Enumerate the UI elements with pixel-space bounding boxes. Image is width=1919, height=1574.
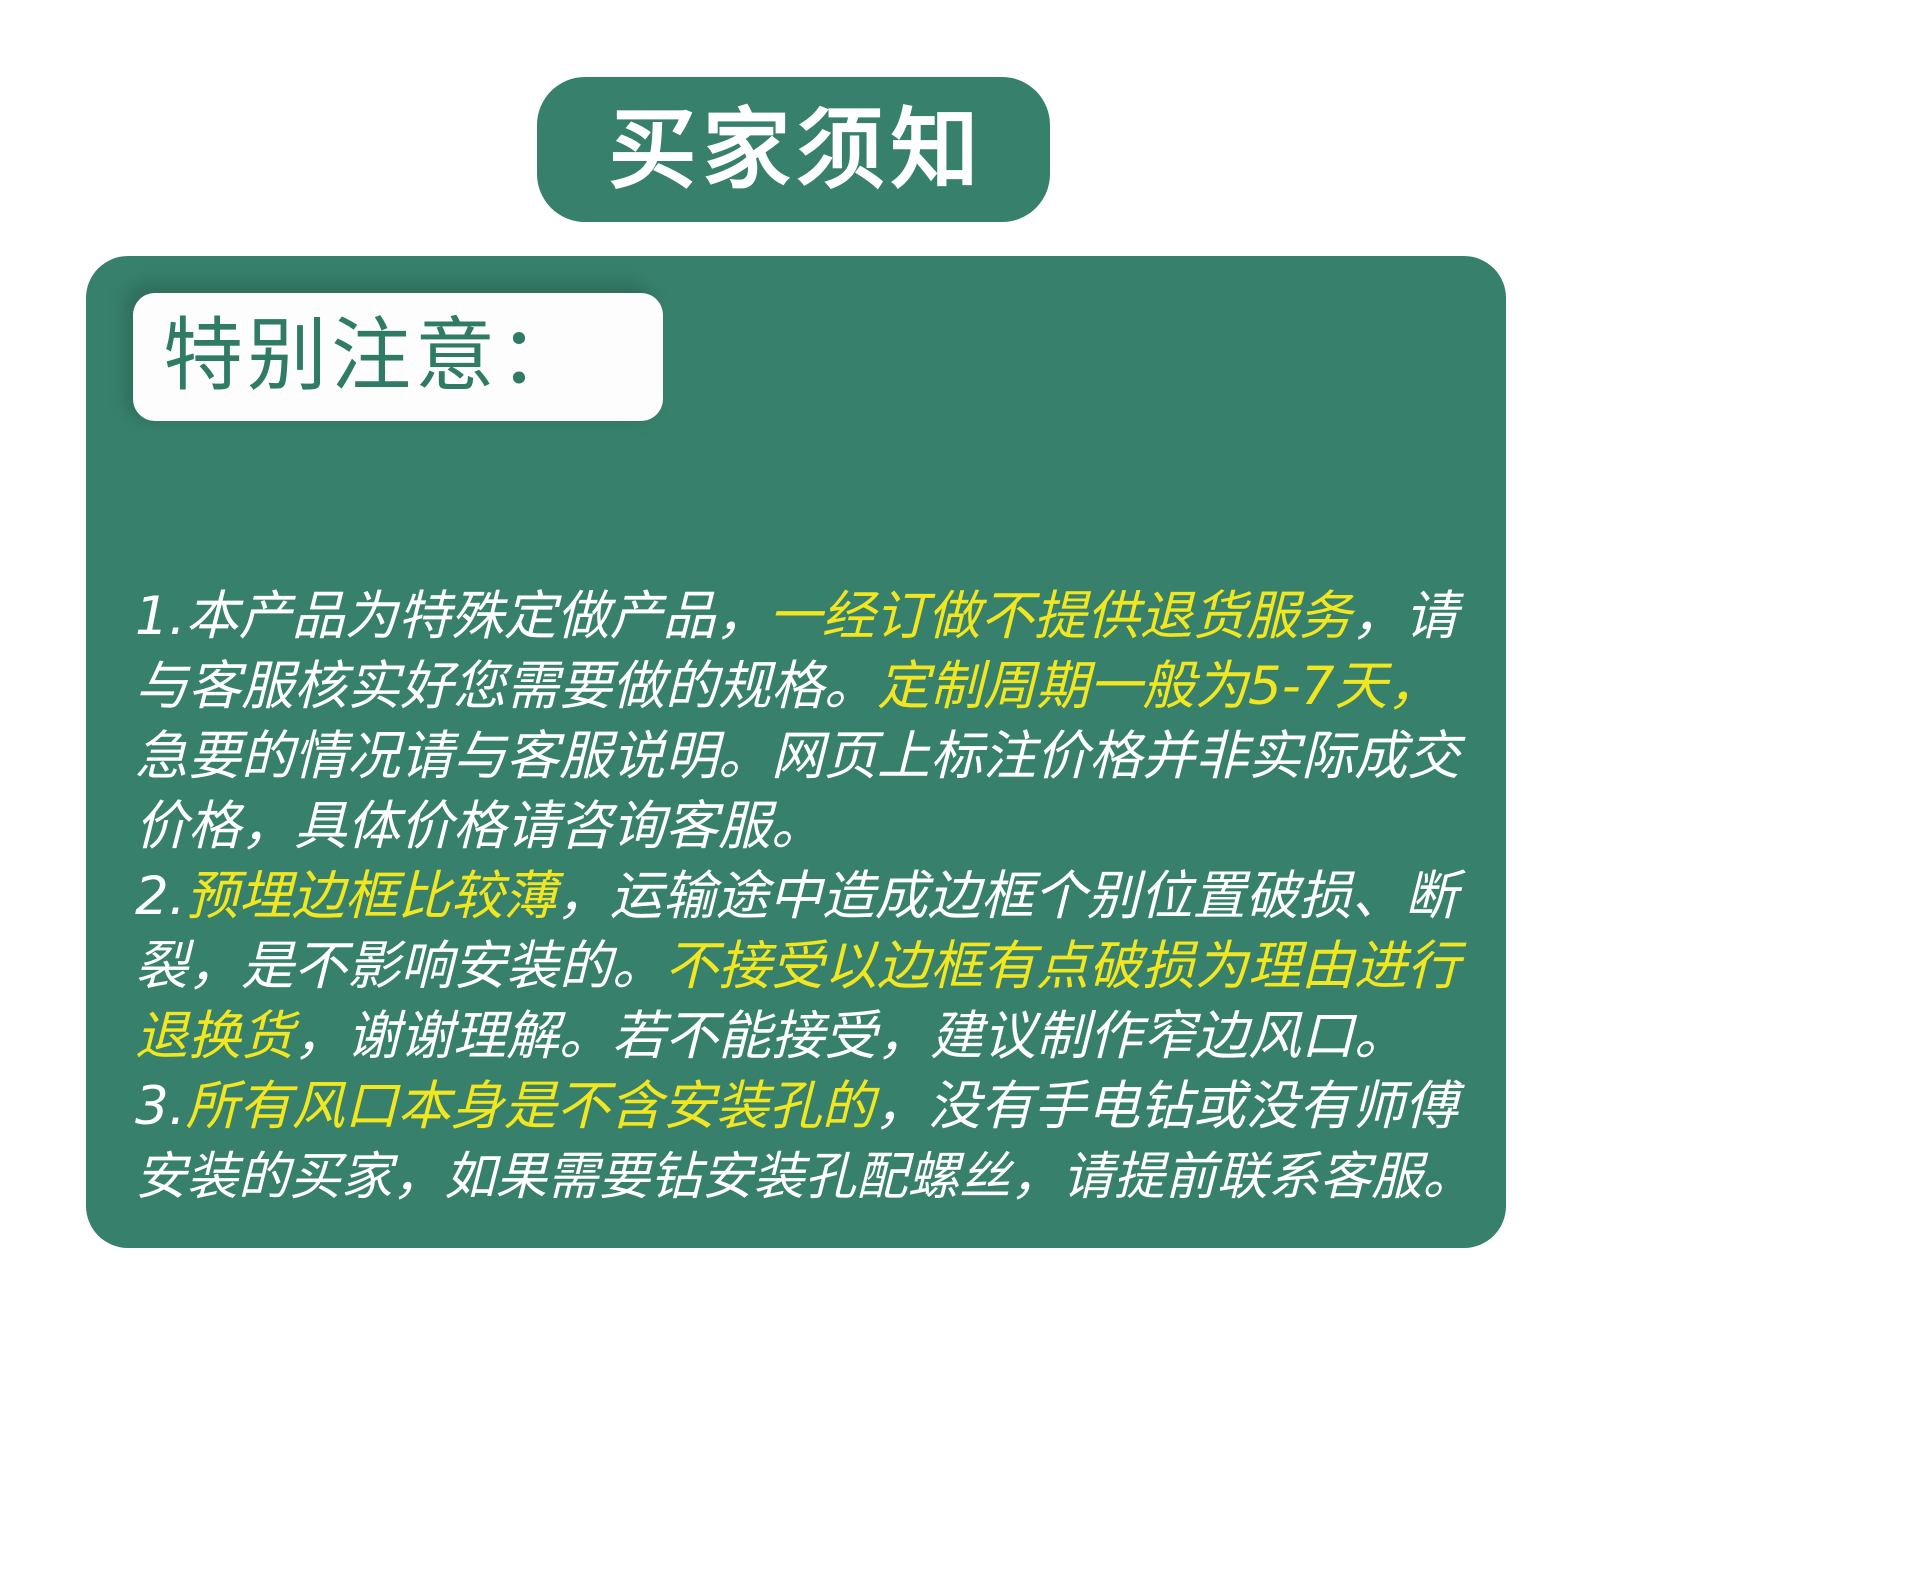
notice-highlight-text: 定制周期一般为5-7天，: [877, 656, 1441, 717]
notice-plain-text: ，运输途中造成边框个别位置破损、断: [557, 866, 1458, 927]
notice-plain-text: 裂，是不影响安装的。: [135, 936, 665, 997]
notice-body-text: 1.本产品为特殊定做产品，一经订做不提供退货服务，请与客服核实好您需要做的规格。…: [135, 582, 1480, 1212]
notice-line: 与客服核实好您需要做的规格。定制周期一般为5-7天，: [135, 652, 1480, 722]
attention-box: 特别注意：: [133, 293, 663, 421]
notice-plain-text: ，谢谢理解。若不能接受，建议制作窄边风口。: [294, 1006, 1407, 1067]
page-title-badge: 买家须知: [537, 77, 1050, 222]
notice-plain-text: 安装的买家，如果需要钻安装孔配螺丝，请提前联系客服。: [135, 1147, 1474, 1207]
notice-line: 3.所有风口本身是不含安装孔的，没有手电钻或没有师傅: [135, 1072, 1480, 1142]
notice-line: 安装的买家，如果需要钻安装孔配螺丝，请提前联系客服。: [135, 1142, 1480, 1212]
notice-line: 2.预埋边框比较薄，运输途中造成边框个别位置破损、断: [135, 862, 1480, 932]
notice-plain-text: ，请: [1352, 586, 1458, 647]
notice-plain-text: 急要的情况请与客服说明。网页上标注价格并非实际成交: [135, 726, 1460, 787]
notice-plain-text: 价格，具体价格请咨询客服。: [135, 796, 824, 857]
notice-plain-text: 2.: [135, 866, 186, 927]
notice-highlight-text: 一经订做不提供退货服务: [769, 586, 1352, 647]
notice-line: 1.本产品为特殊定做产品，一经订做不提供退货服务，请: [135, 582, 1480, 652]
notice-line: 价格，具体价格请咨询客服。: [135, 792, 1480, 862]
notice-plain-text: 3.: [135, 1076, 186, 1137]
notice-plain-text: 1.本产品为特殊定做产品，: [135, 586, 769, 647]
notice-highlight-text: 预埋边框比较薄: [186, 866, 557, 927]
page-title: 买家须知: [602, 106, 984, 194]
notice-highlight-text: 不接受以边框有点破损为理由进行: [665, 936, 1460, 997]
notice-highlight-text: 所有风口本身是不含安装孔的: [186, 1076, 875, 1137]
notice-line: 退换货，谢谢理解。若不能接受，建议制作窄边风口。: [135, 1002, 1480, 1072]
notice-highlight-text: 退换货: [135, 1006, 294, 1067]
attention-label: 特别注意：: [163, 317, 583, 397]
notice-plain-text: ，没有手电钻或没有师傅: [875, 1076, 1458, 1137]
notice-line: 急要的情况请与客服说明。网页上标注价格并非实际成交: [135, 722, 1480, 792]
notice-line: 裂，是不影响安装的。不接受以边框有点破损为理由进行: [135, 932, 1480, 1002]
notice-plain-text: 与客服核实好您需要做的规格。: [135, 656, 877, 717]
